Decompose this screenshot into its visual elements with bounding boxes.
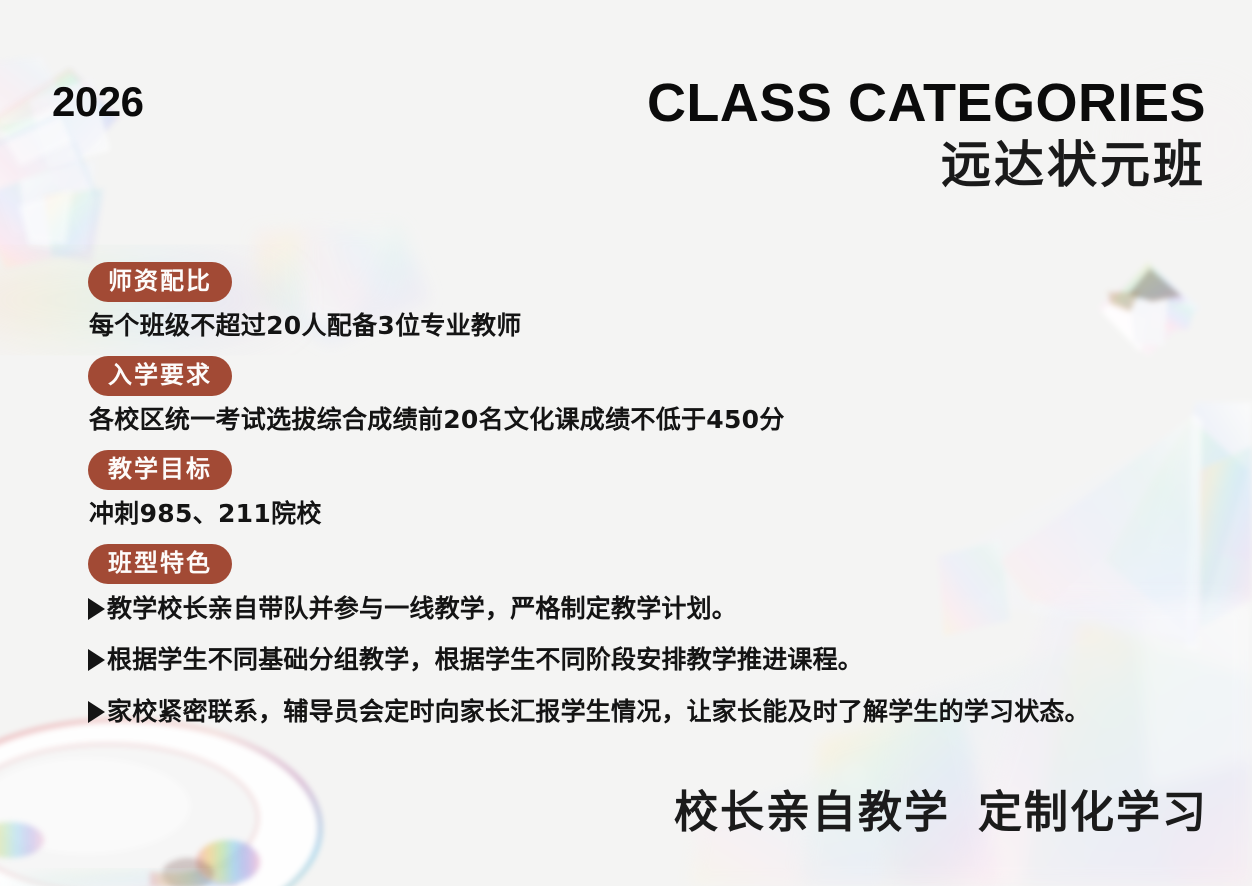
list-item: 家校紧密联系，辅导员会定时向家长汇报学生情况，让家长能及时了解学生的学习状态。	[88, 696, 1198, 727]
triangle-bullet-icon	[88, 701, 105, 723]
section-class-features: 班型特色 教学校长亲自带队并参与一线教学，严格制定教学计划。 根据学生不同基础分…	[88, 544, 1198, 727]
section-admission-requirement: 入学要求 各校区统一考试选拔综合成绩前20名文化课成绩不低于450分	[88, 356, 1198, 437]
list-item-text: 根据学生不同基础分组教学，根据学生不同阶段安排教学推进课程。	[107, 644, 863, 675]
section-badge: 班型特色	[88, 544, 232, 584]
feature-bullet-list: 教学校长亲自带队并参与一线教学，严格制定教学计划。 根据学生不同基础分组教学，根…	[88, 593, 1198, 727]
list-item-text: 家校紧密联系，辅导员会定时向家长汇报学生情况，让家长能及时了解学生的学习状态。	[107, 696, 1090, 727]
header-title-english: CLASS CATEGORIES	[647, 76, 1206, 131]
section-body: 每个班级不超过20人配备3位专业教师	[89, 310, 1198, 343]
poster-header: CLASS CATEGORIES 远达状元班	[647, 76, 1206, 192]
poster-root: 2026 CLASS CATEGORIES 远达状元班 师资配比 每个班级不超过…	[0, 0, 1252, 886]
section-teaching-goal: 教学目标 冲刺985、211院校	[88, 450, 1198, 531]
triangle-bullet-icon	[88, 649, 105, 671]
header-title-chinese: 远达状元班	[647, 139, 1206, 192]
sections-list: 师资配比 每个班级不超过20人配备3位专业教师 入学要求 各校区统一考试选拔综合…	[88, 262, 1198, 727]
section-body: 冲刺985、211院校	[89, 498, 1198, 531]
poster-content: 2026 CLASS CATEGORIES 远达状元班 师资配比 每个班级不超过…	[0, 0, 1252, 886]
list-item: 根据学生不同基础分组教学，根据学生不同阶段安排教学推进课程。	[88, 644, 1198, 675]
footer-tagline-left: 校长亲自教学	[674, 787, 950, 838]
triangle-bullet-icon	[88, 598, 105, 620]
section-badge: 师资配比	[88, 262, 232, 302]
footer-tagline-right: 定制化学习	[978, 787, 1208, 838]
list-item: 教学校长亲自带队并参与一线教学，严格制定教学计划。	[88, 593, 1198, 624]
section-badge: 教学目标	[88, 450, 232, 490]
footer-tagline: 校长亲自教学定制化学习	[674, 776, 1208, 840]
year-label: 2026	[52, 81, 143, 123]
section-badge: 入学要求	[88, 356, 232, 396]
list-item-text: 教学校长亲自带队并参与一线教学，严格制定教学计划。	[107, 593, 737, 624]
section-teacher-ratio: 师资配比 每个班级不超过20人配备3位专业教师	[88, 262, 1198, 343]
section-body: 各校区统一考试选拔综合成绩前20名文化课成绩不低于450分	[89, 404, 1198, 437]
